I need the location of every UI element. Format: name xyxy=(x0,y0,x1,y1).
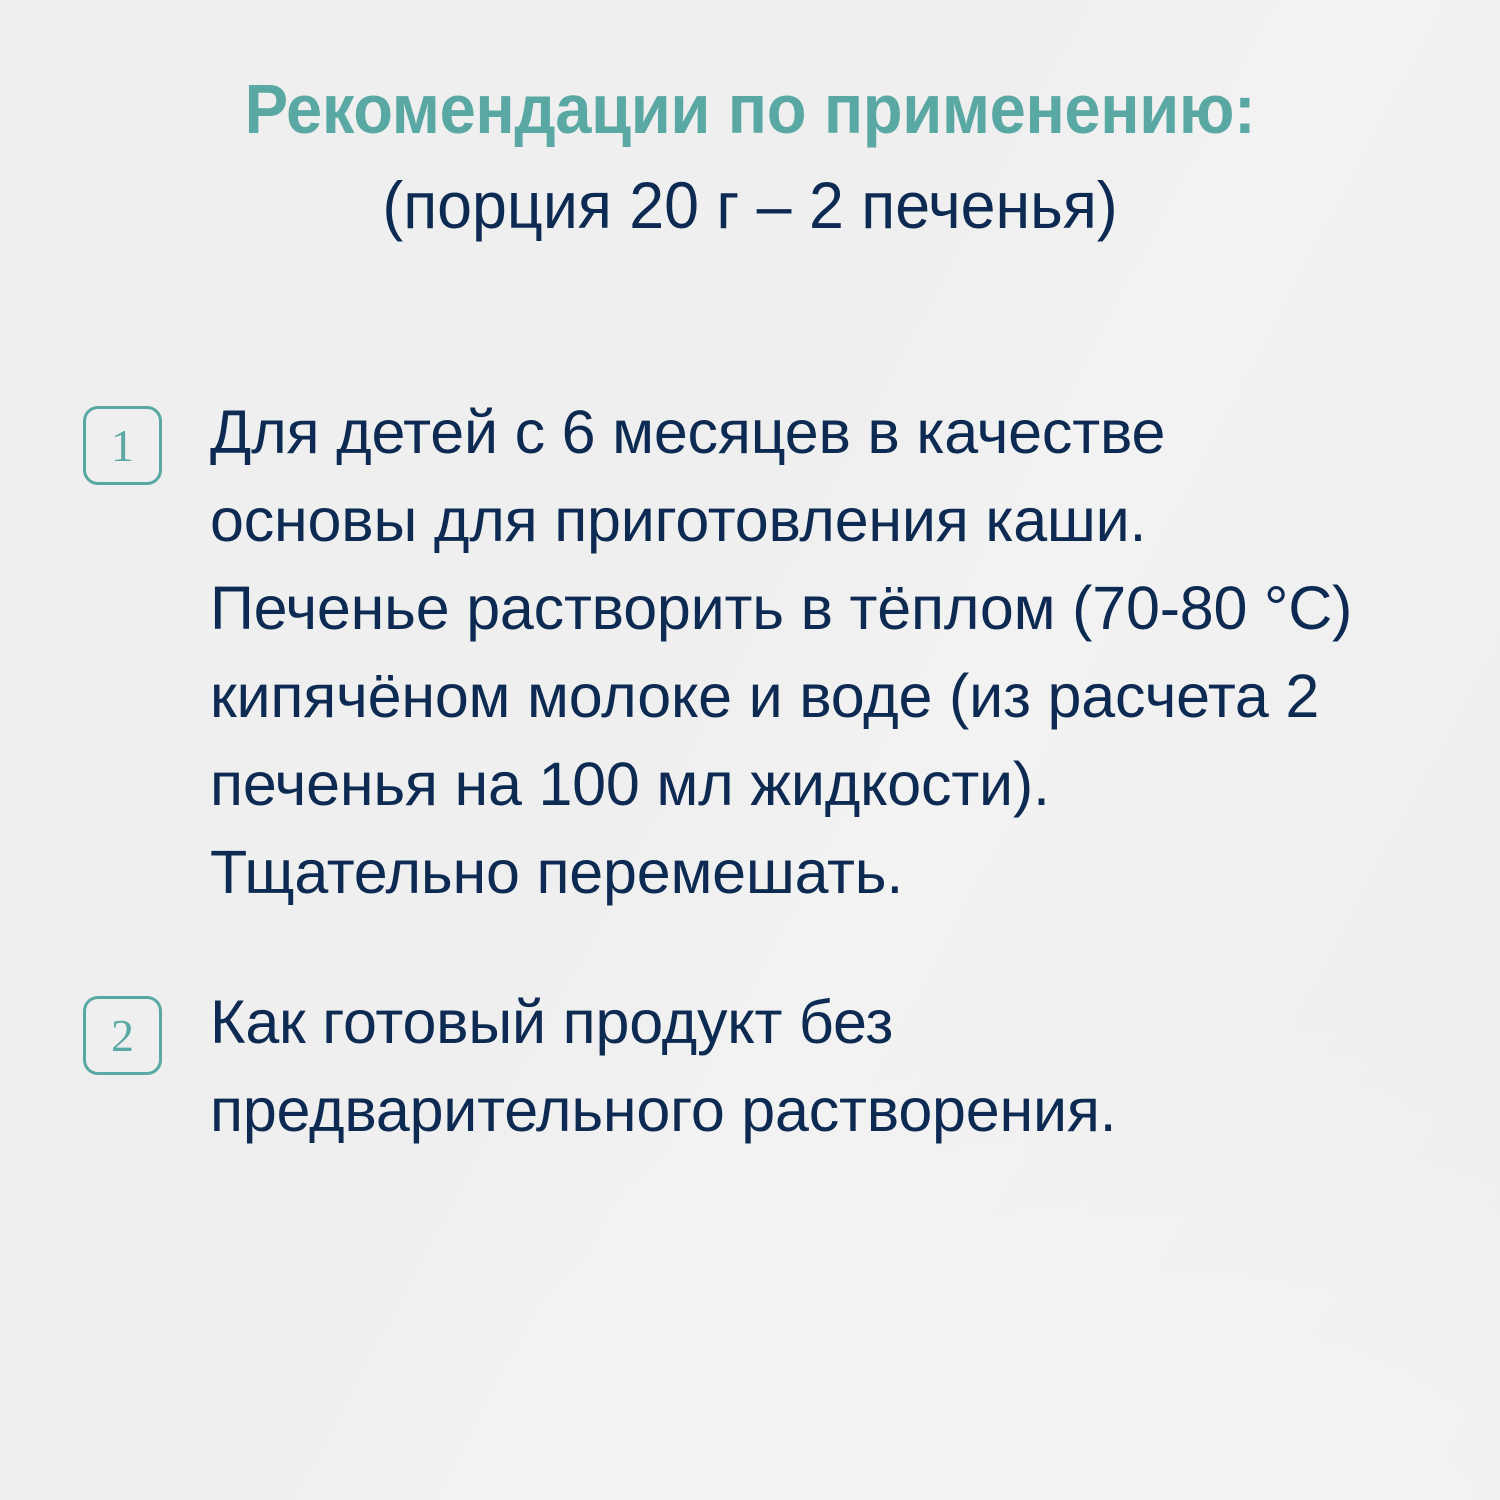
step-line: кипячёном молоке и воде (из расчета 2 xyxy=(210,652,1367,740)
step-number-badge-1: 1 xyxy=(83,406,162,485)
header-block: Рекомендации по применению: (порция 20 г… xyxy=(0,74,1500,238)
step-line: печенья на 100 мл жидкости). xyxy=(210,740,1367,828)
step-text-2: Как готовый продукт без предварительного… xyxy=(162,978,1427,1154)
step-line: предварительного растворения. xyxy=(210,1066,1367,1154)
list-item: 2 Как готовый продукт без предварительно… xyxy=(0,978,1500,1154)
step-number-badge-2: 2 xyxy=(83,996,162,1075)
page-subtitle: (порция 20 г – 2 печенья) xyxy=(38,172,1463,238)
step-line: Печенье растворить в тёплом (70-80 °C) xyxy=(210,564,1367,652)
step-line: Тщательно перемешать. xyxy=(210,828,1367,916)
instructions-list: 1 Для детей с 6 месяцев в качестве основ… xyxy=(0,388,1500,1154)
slide-canvas: Рекомендации по применению: (порция 20 г… xyxy=(0,0,1500,1500)
list-item: 1 Для детей с 6 месяцев в качестве основ… xyxy=(0,388,1500,916)
page-title: Рекомендации по применению: xyxy=(53,74,1448,144)
step-line: Как готовый продукт без xyxy=(210,978,1367,1066)
step-line: основы для приготовления каши. xyxy=(210,476,1367,564)
step-line: Для детей с 6 месяцев в качестве xyxy=(210,388,1367,476)
step-text-1: Для детей с 6 месяцев в качестве основы … xyxy=(162,388,1427,916)
